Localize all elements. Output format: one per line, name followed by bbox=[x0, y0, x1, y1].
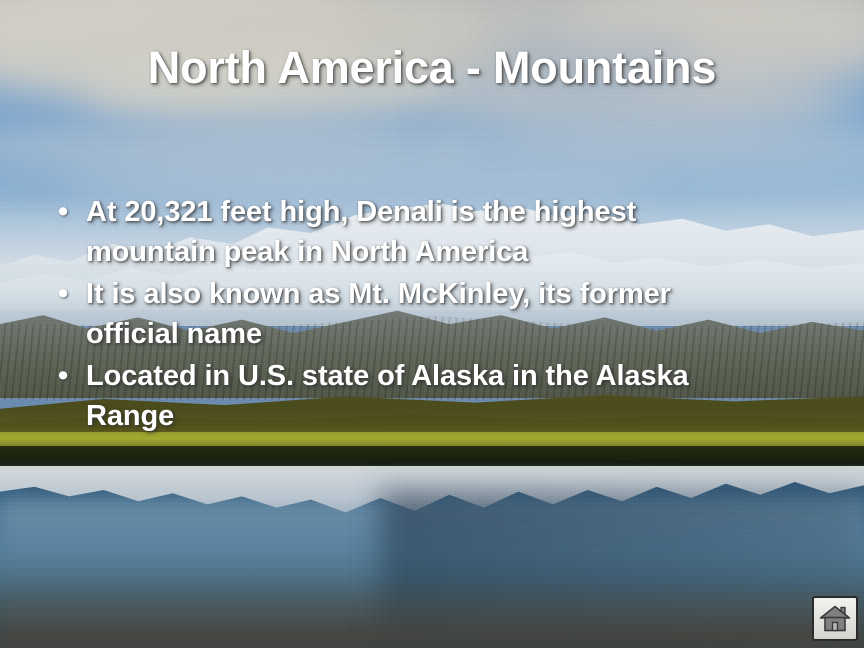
bullet-text: At 20,321 feet high, Denali is the highe… bbox=[86, 192, 758, 272]
home-icon bbox=[819, 604, 851, 634]
list-item: • Located in U.S. state of Alaska in the… bbox=[58, 356, 758, 436]
bullet-text: Located in U.S. state of Alaska in the A… bbox=[86, 356, 758, 436]
presentation-slide: North America - Mountains • At 20,321 fe… bbox=[0, 0, 864, 648]
bullet-marker-icon: • bbox=[58, 192, 86, 232]
bullet-list: • At 20,321 feet high, Denali is the hig… bbox=[58, 192, 758, 438]
water-foreground-tint bbox=[0, 578, 864, 648]
bullet-marker-icon: • bbox=[58, 274, 86, 314]
home-button[interactable] bbox=[812, 596, 858, 641]
bullet-marker-icon: • bbox=[58, 356, 86, 396]
slide-title: North America - Mountains bbox=[40, 42, 824, 94]
bullet-text: It is also known as Mt. McKinley, its fo… bbox=[86, 274, 758, 354]
list-item: • At 20,321 feet high, Denali is the hig… bbox=[58, 192, 758, 272]
list-item: • It is also known as Mt. McKinley, its … bbox=[58, 274, 758, 354]
